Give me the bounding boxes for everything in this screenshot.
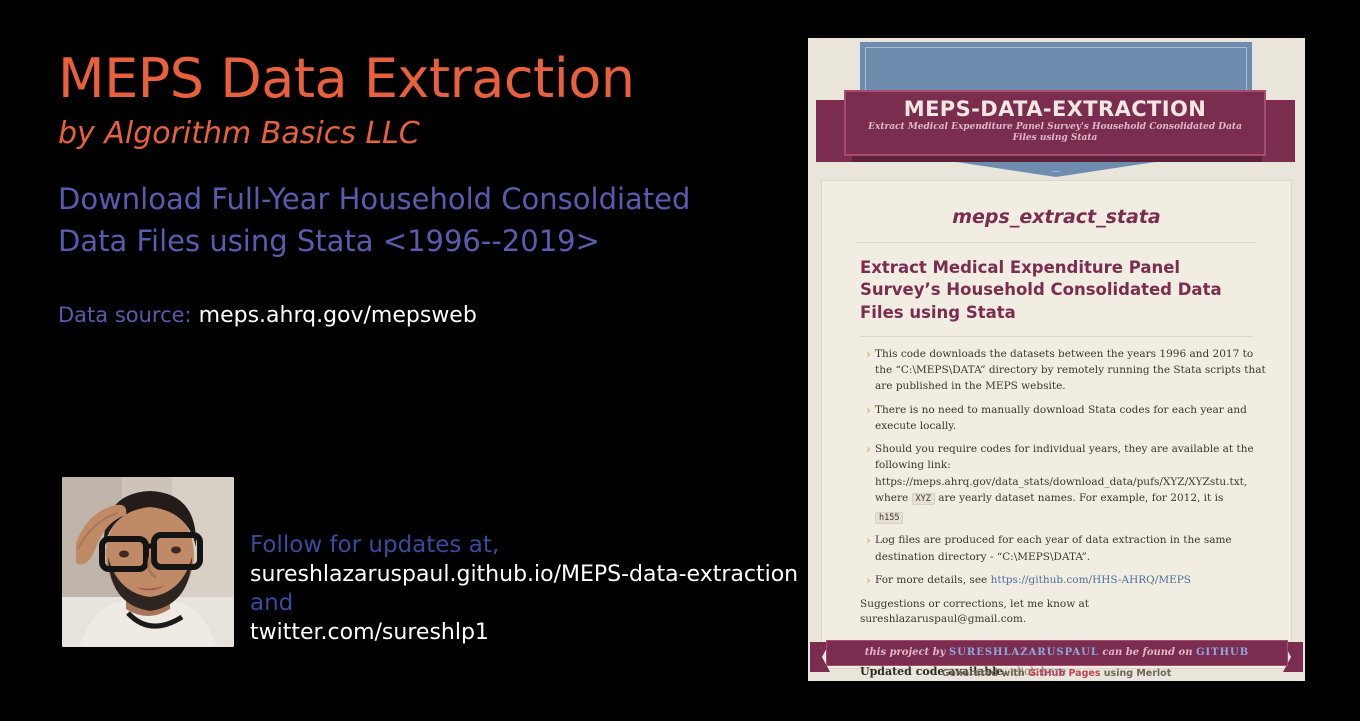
list-item: There is no need to manually download St… bbox=[866, 402, 1267, 435]
content-heading: Extract Medical Expenditure Panel Survey… bbox=[822, 243, 1291, 324]
github-page-screenshot: MEPS-DATA-EXTRACTION Extract Medical Exp… bbox=[808, 38, 1305, 681]
generated-with-credit: Generated with GitHub Pages using Merlot bbox=[808, 668, 1305, 679]
feature-bullet-list: This code downloads the datasets between… bbox=[822, 337, 1291, 588]
footer-middle: can be found on bbox=[1102, 647, 1192, 658]
generated-prefix: Generated with bbox=[942, 668, 1025, 679]
data-source-row: Data source:meps.ahrq.gov/mepsweb bbox=[58, 303, 477, 328]
follow-conjunction: and bbox=[250, 589, 800, 619]
list-item: This code downloads the datasets between… bbox=[866, 346, 1267, 395]
slide-left-panel: MEPS Data Extraction by Algorithm Basics… bbox=[0, 0, 800, 721]
data-source-value: meps.ahrq.gov/mepsweb bbox=[199, 303, 477, 328]
footer-ribbon: this project by SURESHLAZARUSPAUL can be… bbox=[826, 640, 1288, 666]
follow-block: Follow for updates at, sureshlazaruspaul… bbox=[250, 531, 800, 648]
repo-name: meps_extract_stata bbox=[822, 181, 1291, 228]
list-item: For more details, see https://github.com… bbox=[866, 572, 1267, 588]
contact-note-line-2: sureshlazaruspaul@gmail.com. bbox=[860, 612, 1267, 627]
bullet-text-after: are yearly dataset names. For example, f… bbox=[935, 492, 1223, 504]
follow-link-twitter[interactable]: twitter.com/sureshlp1 bbox=[250, 619, 800, 648]
list-item: Log files are produced for each year of … bbox=[866, 532, 1267, 565]
page-byline: by Algorithm Basics LLC bbox=[58, 119, 420, 149]
page-description: Download Full-Year Household Consoldiate… bbox=[58, 178, 798, 262]
github-pages-link[interactable]: GitHub Pages bbox=[1028, 668, 1100, 679]
header-ribbon-subtitle: Extract Medical Expenditure Panel Survey… bbox=[846, 121, 1264, 145]
footer-github-link[interactable]: GITHUB bbox=[1196, 647, 1249, 658]
content-card: meps_extract_stata Extract Medical Expen… bbox=[822, 181, 1291, 668]
bullet-text: There is no need to manually download St… bbox=[875, 404, 1247, 432]
footer-prefix: this project by bbox=[865, 647, 946, 658]
page-title: MEPS Data Extraction bbox=[58, 52, 635, 106]
avatar bbox=[62, 477, 234, 647]
github-repo-link[interactable]: https://github.com/HHS-AHRQ/MEPS bbox=[991, 574, 1191, 586]
inline-code-h155: h155 bbox=[875, 512, 903, 524]
follow-heading: Follow for updates at, bbox=[250, 531, 800, 561]
description-line-1: Download Full-Year Household Consoldiate… bbox=[58, 178, 798, 220]
bullet-text: This code downloads the datasets between… bbox=[875, 348, 1266, 393]
contact-note: Suggestions or corrections, let me know … bbox=[822, 595, 1291, 627]
avatar-image bbox=[62, 477, 234, 647]
generated-suffix: using Merlot bbox=[1104, 668, 1171, 679]
list-item: Should you require codes for individual … bbox=[866, 441, 1267, 525]
follow-link-github[interactable]: sureshlazaruspaul.github.io/MEPS-data-ex… bbox=[250, 561, 800, 590]
footer-author[interactable]: SURESHLAZARUSPAUL bbox=[949, 647, 1099, 658]
bullet-text: Log files are produced for each year of … bbox=[875, 534, 1232, 562]
data-source-label: Data source: bbox=[58, 303, 192, 327]
bullet-text: For more details, see bbox=[875, 574, 991, 586]
header-ribbon-title: MEPS-DATA-EXTRACTION bbox=[846, 97, 1264, 121]
header-ribbon: MEPS-DATA-EXTRACTION Extract Medical Exp… bbox=[844, 90, 1266, 156]
inline-code-xyz: XYZ bbox=[912, 493, 935, 505]
contact-note-line-1: Suggestions or corrections, let me know … bbox=[860, 597, 1267, 612]
description-line-2: Data Files using Stata <1996--2019> bbox=[58, 220, 798, 262]
